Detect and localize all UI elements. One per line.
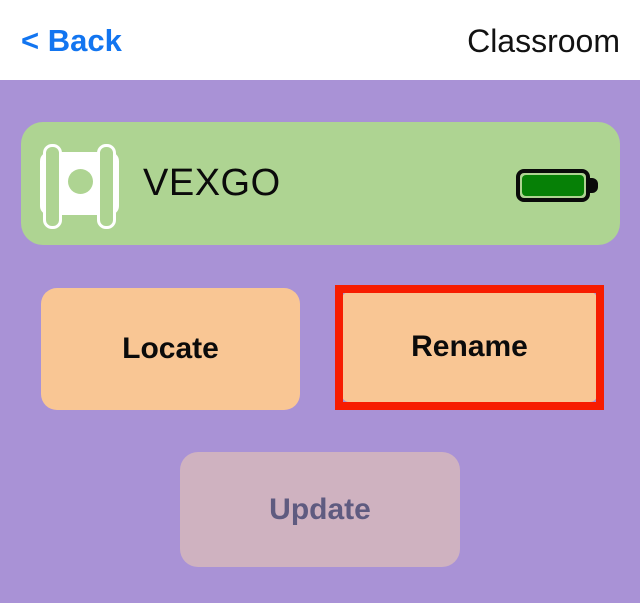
brain-right-wheel-shape xyxy=(97,144,116,229)
device-card[interactable]: VEXGO xyxy=(21,122,620,245)
battery-cap-shape xyxy=(587,178,598,193)
page-title: Classroom xyxy=(467,22,620,60)
back-button[interactable]: < Back xyxy=(21,23,122,59)
battery-full-icon xyxy=(516,169,598,202)
navigation-bar: < Back Classroom xyxy=(0,0,640,80)
brain-center-dot-shape xyxy=(68,169,93,194)
brain-left-wheel-shape xyxy=(43,144,62,229)
battery-level-fill xyxy=(522,175,584,196)
device-name-label: VEXGO xyxy=(143,152,281,214)
locate-button[interactable]: Locate xyxy=(41,288,300,410)
vex-brain-icon xyxy=(40,144,119,223)
app-screen: < Back Classroom VEXGO Locate Rename Upd… xyxy=(0,0,640,603)
rename-button[interactable]: Rename xyxy=(342,292,597,402)
update-button: Update xyxy=(180,452,460,567)
